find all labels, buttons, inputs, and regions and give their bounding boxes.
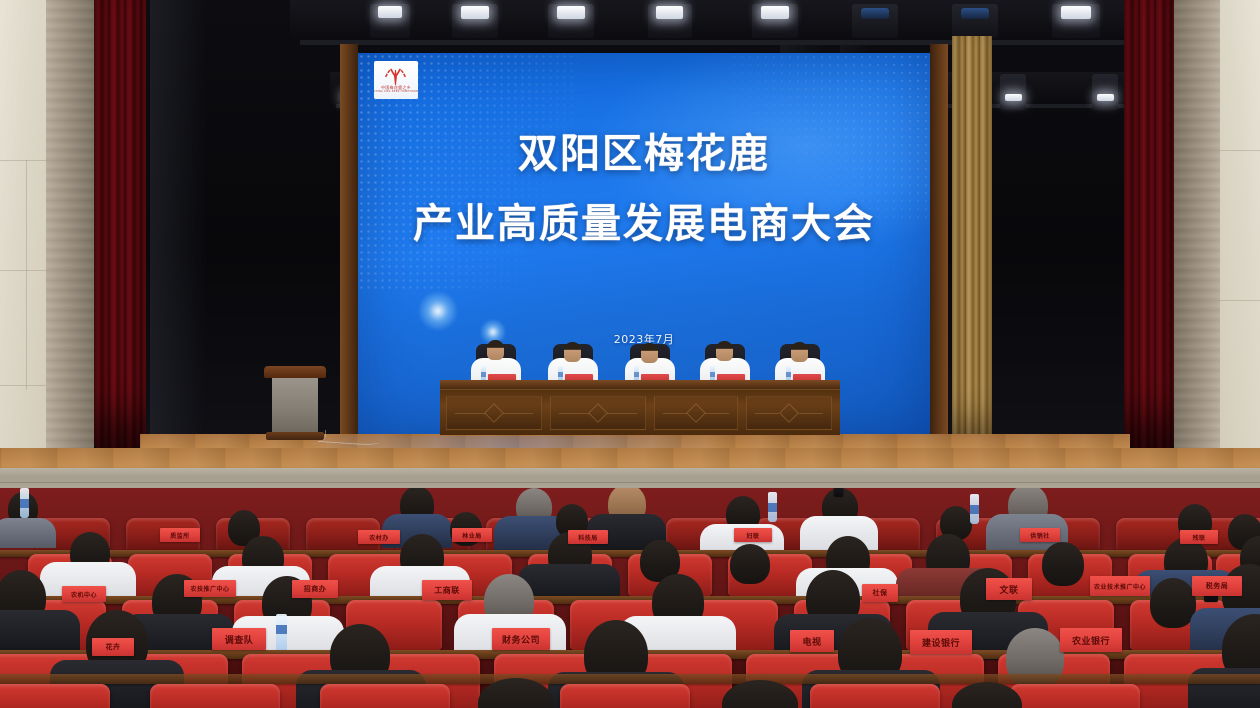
water-bottle (276, 614, 287, 652)
title-line-2: 产业高质量发展电商大会 (358, 197, 930, 251)
stage-light-icon (1061, 6, 1091, 19)
hall-wall-right (1220, 0, 1260, 480)
audience-seat (560, 684, 690, 708)
stage-light-icon (761, 6, 789, 19)
table-ornament (588, 403, 608, 423)
stage-light-housing (1000, 74, 1026, 110)
stage-light-blue-icon (961, 8, 989, 19)
proscenium-frame-right (930, 44, 948, 444)
audience-shoulders (0, 610, 80, 654)
table-ornament (779, 403, 799, 423)
seat-placard: 农机中心 (62, 586, 106, 602)
seat-placard: 财务公司 (492, 628, 550, 650)
presidium-table-front (440, 389, 840, 435)
deer-antler-logo-icon: 中国梅花鹿之乡 CHINA SIKA DEER HOMETOWN (374, 61, 418, 99)
seat-placard: 农村办 (358, 530, 400, 544)
seat-placard: 农业银行 (1060, 628, 1122, 652)
audience-seating-area: 花卉农机中心调查队农技推广中心质监所招商办财务公司工商联林业局农村办科技局电视社… (0, 488, 1260, 708)
seat-placard: 招商办 (292, 580, 338, 598)
presidium-official-head (641, 343, 658, 363)
hall-column-right (1174, 0, 1220, 480)
presidium-table-top (440, 380, 840, 389)
stage-light-housing (1092, 74, 1118, 110)
water-bottle (20, 488, 29, 518)
seat-placard: 电视 (790, 630, 834, 652)
proscenium-frame-left (340, 44, 358, 444)
hall-wall-left (0, 0, 46, 480)
table-ornament (484, 403, 504, 423)
table-ornament (686, 403, 706, 423)
seat-placard: 农业技术推广中心 (1090, 576, 1150, 596)
audience-seat (320, 684, 450, 708)
audience-seat (1010, 684, 1140, 708)
hall-column-left (46, 0, 94, 480)
seat-placard: 科技局 (568, 530, 608, 544)
stage-light-icon (656, 6, 683, 19)
smartphone[interactable] (834, 488, 843, 497)
logo-text-secondary: CHINA SIKA DEER HOMETOWN (374, 91, 418, 94)
water-bottle (768, 492, 777, 522)
seat-placard: 社保 (862, 584, 898, 602)
seat-placard: 工商联 (422, 580, 472, 600)
red-stage-curtain-right (1124, 0, 1174, 448)
seat-placard: 建设银行 (910, 630, 972, 654)
seat-placard: 质监所 (160, 528, 200, 542)
stage-light-icon (1097, 94, 1114, 101)
presentation-title: 双阳区梅花鹿 产业高质量发展电商大会 (358, 127, 930, 251)
audience-head (1042, 542, 1084, 586)
presidium-official-head (791, 342, 808, 362)
seat-placard: 税务局 (1192, 576, 1242, 596)
audience-head (1150, 578, 1196, 628)
seat-placard: 残联 (1180, 530, 1218, 544)
seat-placard: 妇联 (734, 528, 772, 542)
seat-placard: 林业局 (452, 528, 492, 542)
presidium-official-head (487, 340, 504, 360)
title-line-1: 双阳区梅花鹿 (358, 127, 930, 181)
audience-seat (810, 684, 940, 708)
audience-head (730, 544, 770, 584)
gold-stage-curtain (952, 36, 992, 448)
lectern-top (264, 366, 326, 378)
conference-hall-photo: 中国梅花鹿之乡 CHINA SIKA DEER HOMETOWN 双阳区梅花鹿 … (0, 0, 1260, 708)
audience-seat (0, 684, 110, 708)
presidium-official-head (564, 342, 581, 362)
red-stage-curtain-left (94, 0, 146, 448)
stage-light-icon (378, 6, 402, 18)
audience-shoulders (0, 518, 56, 548)
stage-light-icon (461, 6, 489, 19)
seat-desk-rail (0, 674, 1260, 684)
seat-placard: 文联 (986, 578, 1032, 600)
presidium-official-head (716, 341, 733, 361)
stage-light-icon (1005, 94, 1022, 101)
seat-placard: 调查队 (212, 628, 266, 650)
lectern-body (272, 378, 318, 434)
stage-light-blue-icon (861, 8, 889, 19)
audience-seat (150, 684, 280, 708)
seat-placard: 花卉 (92, 638, 134, 656)
water-bottle (970, 494, 979, 524)
seat-placard: 供销社 (1020, 528, 1060, 542)
seat-placard: 农技推广中心 (184, 580, 236, 597)
light-glow-spot (418, 291, 458, 331)
stage-light-icon (557, 6, 585, 19)
